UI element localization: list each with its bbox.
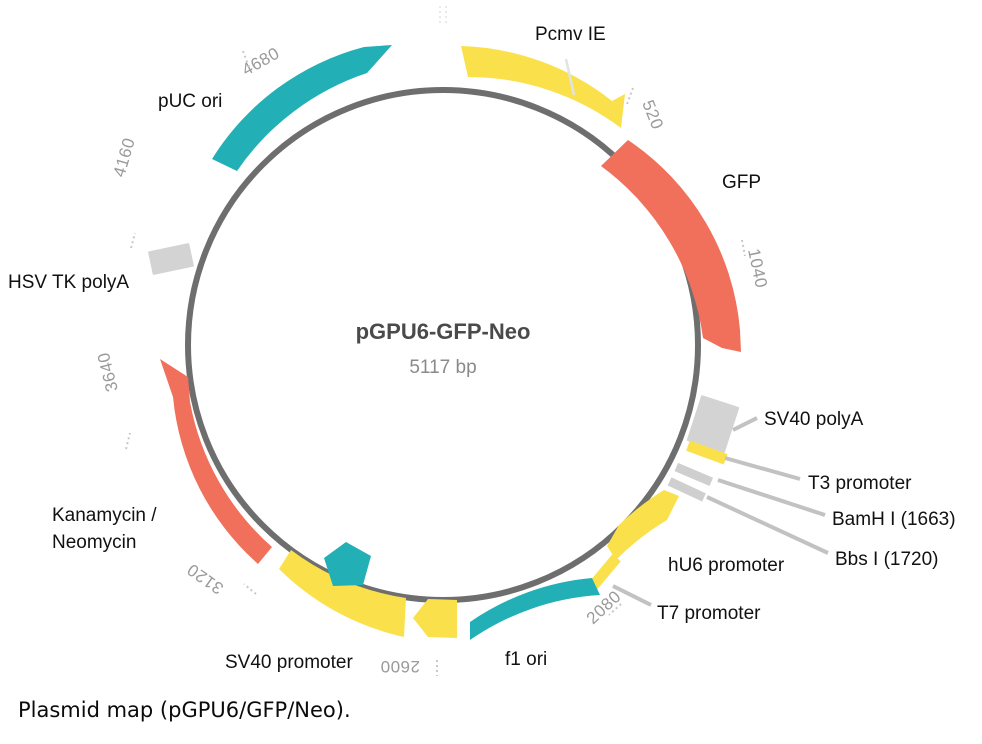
label-t7-promoter: T7 promoter (657, 603, 761, 624)
label-bamhi: BamH I (1663) (832, 509, 956, 530)
label-t3-promoter: T3 promoter (808, 473, 912, 494)
feature-small-yellow-arrow[interactable] (413, 599, 457, 638)
origin-tick-marker (440, 6, 446, 26)
leader-t3-promoter (725, 458, 800, 479)
svg-text:520: 520 (638, 97, 667, 132)
tick-4680: 4680 (239, 44, 283, 80)
tick-3640: 3640 (94, 350, 130, 449)
label-f1-ori: f1 ori (505, 649, 547, 670)
tick-2600: 2600 (380, 657, 437, 676)
label-pcmv-ie: Pcmv IE (535, 24, 606, 45)
leader-sv40-polya (733, 418, 757, 430)
tick-520: 520 (627, 88, 667, 132)
svg-text:4680: 4680 (239, 44, 283, 80)
feature-f1-ori[interactable] (470, 578, 600, 640)
label-sv40-polya: SV40 polyA (764, 409, 864, 430)
plasmid-map: Pcmv IE GFP SV40 polyA T3 promoter BamH … (0, 0, 982, 744)
tick-3120: 3120 (183, 560, 256, 598)
svg-text:1040: 1040 (744, 247, 771, 290)
label-kanamycin-neomycin-line2: Neomycin (52, 532, 136, 553)
label-hsv-tk-polya: HSV TK polyA (8, 272, 129, 293)
feature-gfp[interactable] (601, 140, 741, 352)
label-kanamycin-neomycin-line1: Kanamycin / (52, 505, 157, 526)
figure-caption: Plasmid map (pGPU6/GFP/Neo). (18, 698, 351, 722)
feature-hsv-tk-polya[interactable] (148, 243, 194, 275)
plasmid-name: pGPU6-GFP-Neo (356, 319, 531, 344)
svg-text:3640: 3640 (94, 350, 122, 393)
plasmid-size: 5117 bp (409, 357, 476, 378)
svg-text:2600: 2600 (380, 657, 420, 676)
label-puc-ori: pUC ori (158, 91, 222, 112)
svg-text:3120: 3120 (183, 560, 227, 598)
tick-4160: 4160 (110, 136, 139, 248)
label-hu6-promoter: hU6 promoter (668, 555, 785, 576)
leader-bbsi (707, 497, 828, 553)
feature-pcmv-ie[interactable] (461, 46, 625, 128)
tick-1040: 1040 (742, 240, 771, 290)
label-gfp: GFP (722, 172, 761, 193)
feature-unlabeled-pentagon[interactable] (324, 542, 371, 586)
label-bbsi: Bbs I (1720) (835, 549, 939, 570)
svg-text:4160: 4160 (110, 136, 139, 180)
label-sv40-promoter: SV40 promoter (225, 652, 353, 673)
